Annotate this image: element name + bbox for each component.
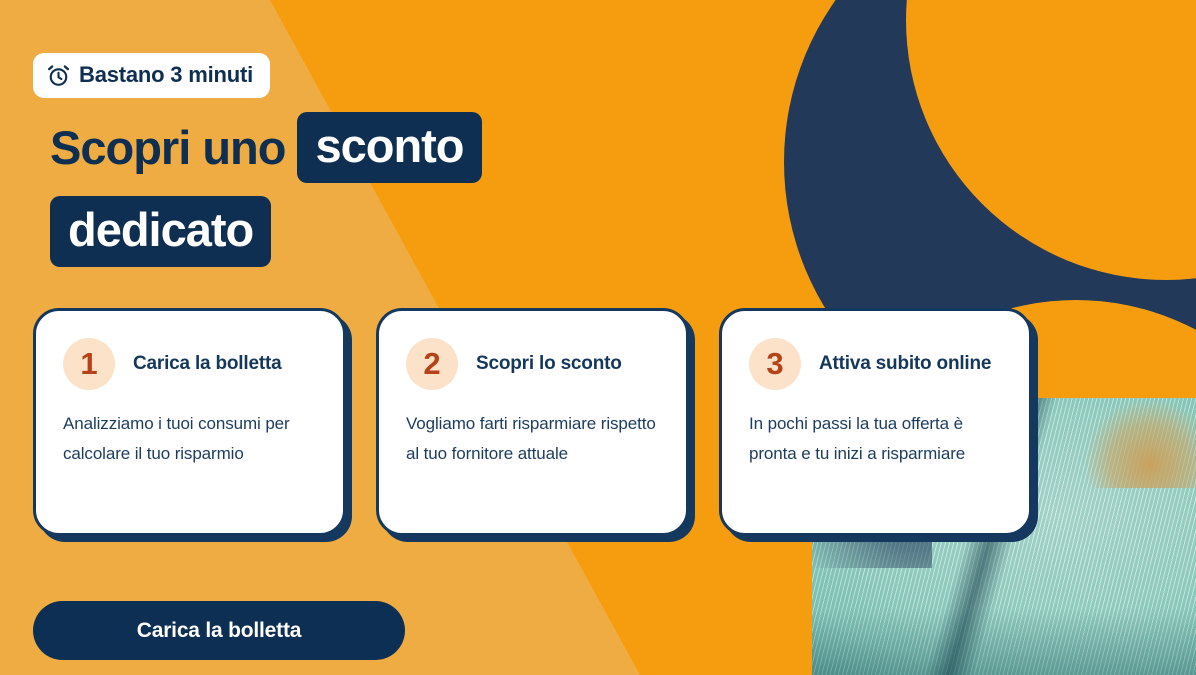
headline-line-1: Scopri uno sconto bbox=[50, 112, 670, 183]
step-card-title: Scopri lo sconto bbox=[476, 347, 622, 380]
step-card-header: 1 Carica la bolletta bbox=[63, 338, 315, 390]
step-card-body: In pochi passi la tua offerta è pronta e… bbox=[749, 409, 1001, 470]
step-card-title: Attiva subito online bbox=[819, 347, 991, 380]
step-card-title: Carica la bolletta bbox=[133, 347, 281, 380]
step-card-1: 1 Carica la bolletta Analizziamo i tuoi … bbox=[33, 308, 346, 536]
step-card-body: Vogliamo farti risparmiare rispetto al t… bbox=[406, 409, 658, 470]
step-card-header: 2 Scopri lo sconto bbox=[406, 338, 658, 390]
time-badge-label: Bastano 3 minuti bbox=[79, 62, 253, 88]
steps-list: 1 Carica la bolletta Analizziamo i tuoi … bbox=[33, 308, 1032, 536]
upload-bill-button[interactable]: Carica la bolletta bbox=[33, 601, 405, 660]
step-number-badge: 3 bbox=[749, 338, 801, 390]
headline-plain-text: Scopri uno bbox=[50, 116, 285, 179]
headline-highlight-sconto: sconto bbox=[297, 112, 481, 183]
promo-banner: Bastano 3 minuti Scopri uno sconto dedic… bbox=[0, 0, 1196, 675]
step-card-body: Analizziamo i tuoi consumi per calcolare… bbox=[63, 409, 315, 470]
step-card-header: 3 Attiva subito online bbox=[749, 338, 1001, 390]
headline-highlight-dedicato: dedicato bbox=[50, 196, 271, 267]
photo-bottom-shading bbox=[812, 608, 1196, 675]
headline-line-2: dedicato bbox=[50, 196, 670, 267]
step-card-2: 2 Scopri lo sconto Vogliamo farti rispar… bbox=[376, 308, 689, 536]
step-number-badge: 1 bbox=[63, 338, 115, 390]
step-card-3: 3 Attiva subito online In pochi passi la… bbox=[719, 308, 1032, 536]
time-badge: Bastano 3 minuti bbox=[33, 53, 270, 98]
alarm-clock-icon bbox=[47, 64, 70, 87]
step-number-badge: 2 bbox=[406, 338, 458, 390]
page-title: Scopri uno sconto dedicato bbox=[50, 112, 670, 267]
photo-hair-highlight bbox=[1066, 398, 1196, 488]
